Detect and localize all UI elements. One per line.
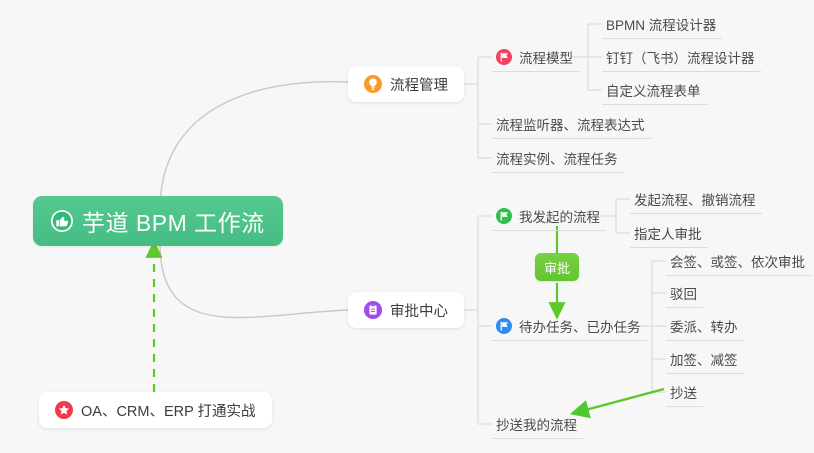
node-bpmn-designer[interactable]: BPMN 流程设计器 bbox=[602, 9, 722, 39]
node-my-initiated-process-label: 我发起的流程 bbox=[519, 206, 600, 226]
node-countersign-orsign-sequential[interactable]: 会签、或签、依次审批 bbox=[666, 246, 811, 276]
node-process-model[interactable]: 流程模型 bbox=[492, 42, 579, 72]
node-dingtalk-feishu-designer-label: 钉钉（飞书）流程设计器 bbox=[606, 47, 755, 67]
node-todo-done-task-label: 待办任务、已办任务 bbox=[519, 316, 641, 336]
node-approval-center[interactable]: 审批中心 bbox=[348, 292, 464, 328]
node-process-model-label: 流程模型 bbox=[519, 47, 573, 67]
root-node[interactable]: 芋道 BPM 工作流 bbox=[33, 196, 283, 246]
node-cc-to-me-process[interactable]: 抄送我的流程 bbox=[492, 409, 583, 439]
flag-icon bbox=[496, 49, 512, 65]
node-process-instance-task-label: 流程实例、流程任务 bbox=[496, 148, 618, 168]
star-icon bbox=[55, 401, 73, 419]
node-reject-label: 驳回 bbox=[670, 283, 697, 303]
link-root-to-approval-center bbox=[160, 243, 348, 318]
lightbulb-icon bbox=[364, 75, 382, 93]
node-dingtalk-feishu-designer[interactable]: 钉钉（飞书）流程设计器 bbox=[602, 42, 761, 72]
node-my-initiated-process[interactable]: 我发起的流程 bbox=[492, 201, 606, 231]
node-assignee-approval[interactable]: 指定人审批 bbox=[630, 218, 708, 248]
node-bpmn-designer-label: BPMN 流程设计器 bbox=[606, 14, 716, 34]
node-assignee-approval-label: 指定人审批 bbox=[634, 223, 702, 243]
thumbs-up-icon bbox=[51, 210, 73, 232]
node-carbon-copy[interactable]: 抄送 bbox=[666, 377, 703, 407]
node-process-management[interactable]: 流程管理 bbox=[348, 66, 464, 102]
flag-icon bbox=[496, 318, 512, 334]
approval-tag[interactable]: 审批 bbox=[535, 253, 579, 281]
node-reject[interactable]: 驳回 bbox=[666, 278, 703, 308]
node-process-listener-expression-label: 流程监听器、流程表达式 bbox=[496, 114, 645, 134]
node-start-cancel-process-label: 发起流程、撤销流程 bbox=[634, 189, 756, 209]
node-approval-center-label: 审批中心 bbox=[390, 300, 448, 321]
link-root-to-process-management bbox=[160, 82, 348, 210]
mindmap-canvas: 芋道 BPM 工作流 流程管理 流程模型 BPMN 流程设计器 钉钉（飞书）流程 bbox=[0, 0, 814, 453]
node-add-remove-sign[interactable]: 加签、减签 bbox=[666, 344, 744, 374]
integration-card[interactable]: OA、CRM、ERP 打通实战 bbox=[39, 392, 272, 428]
approval-tag-label: 审批 bbox=[544, 258, 570, 277]
node-delegate-transfer-label: 委派、转办 bbox=[670, 316, 738, 336]
flag-icon bbox=[496, 208, 512, 224]
node-custom-process-form[interactable]: 自定义流程表单 bbox=[602, 75, 707, 105]
clipboard-icon bbox=[364, 301, 382, 319]
node-add-remove-sign-label: 加签、减签 bbox=[670, 349, 738, 369]
node-countersign-orsign-sequential-label: 会签、或签、依次审批 bbox=[670, 251, 805, 271]
node-todo-done-task[interactable]: 待办任务、已办任务 bbox=[492, 311, 647, 341]
arrow-cc-to-ccme bbox=[578, 389, 664, 412]
node-process-management-label: 流程管理 bbox=[390, 74, 448, 95]
node-process-listener-expression[interactable]: 流程监听器、流程表达式 bbox=[492, 109, 651, 139]
node-delegate-transfer[interactable]: 委派、转办 bbox=[666, 311, 744, 341]
node-start-cancel-process[interactable]: 发起流程、撤销流程 bbox=[630, 184, 762, 214]
integration-card-label: OA、CRM、ERP 打通实战 bbox=[81, 400, 256, 421]
node-process-instance-task[interactable]: 流程实例、流程任务 bbox=[492, 143, 624, 173]
node-cc-to-me-process-label: 抄送我的流程 bbox=[496, 414, 577, 434]
node-carbon-copy-label: 抄送 bbox=[670, 382, 697, 402]
root-label: 芋道 BPM 工作流 bbox=[82, 204, 265, 238]
node-custom-process-form-label: 自定义流程表单 bbox=[606, 80, 701, 100]
